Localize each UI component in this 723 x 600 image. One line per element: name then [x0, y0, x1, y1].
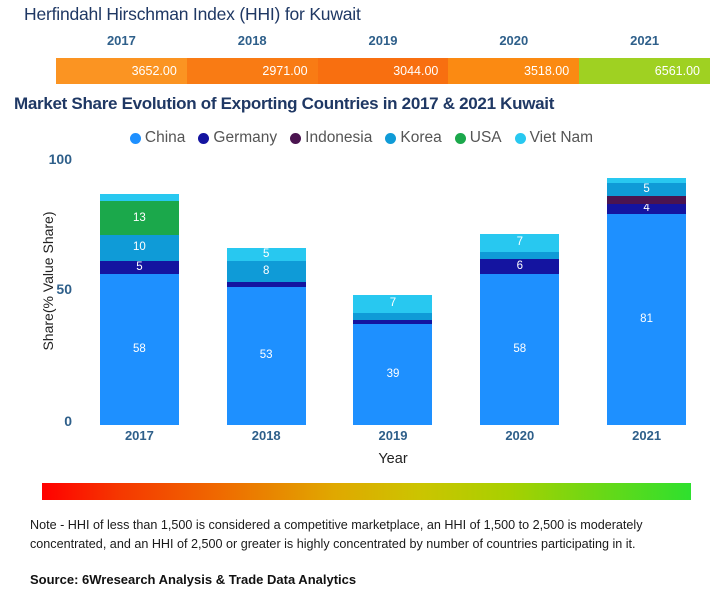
legend-item-usa[interactable]: USA [455, 129, 502, 147]
x-axis-tick: 2018 [203, 428, 330, 443]
bar-segment-viet-nam[interactable]: 5 [227, 248, 306, 261]
hhi-value-cell: 3652.00 [56, 58, 187, 84]
bar-segment-value: 58 [513, 344, 526, 356]
hhi-value-cell: 3518.00 [448, 58, 579, 84]
hhi-year-label: 2017 [56, 33, 187, 48]
bar-segment-value: 39 [387, 369, 400, 381]
hhi-year-label: 2020 [448, 33, 579, 48]
bar-segment-value: 5 [263, 249, 269, 261]
hhi-year-label: 2018 [187, 33, 318, 48]
bar-slot-2020: 7658 [456, 165, 583, 425]
bar-slot-2017: 1310558 [76, 165, 203, 425]
legend-item-korea[interactable]: Korea [385, 129, 441, 147]
y-axis-tick: 0 [30, 413, 72, 429]
x-axis-title: Year [76, 451, 710, 467]
hhi-year-label: 2021 [579, 33, 710, 48]
bar-segment-value: 7 [517, 237, 523, 249]
bar-segment-value: 10 [133, 242, 146, 254]
bar-segment-china[interactable]: 39 [353, 324, 432, 425]
bar-segment-korea[interactable]: 10 [100, 235, 179, 261]
x-axis-tick: 2017 [76, 428, 203, 443]
y-axis-tick: 50 [30, 281, 72, 297]
bar-segment-value: 53 [260, 350, 273, 362]
stacked-bar-2017[interactable]: 1310558 [100, 194, 179, 425]
legend-label: China [145, 129, 186, 147]
plot-area: 1310558585373976585481 [76, 165, 710, 425]
stacked-bar-2018[interactable]: 5853 [227, 248, 306, 425]
hhi-value-cell: 3044.00 [318, 58, 449, 84]
bar-slot-2021: 5481 [583, 165, 710, 425]
y-axis: Share(% Value Share) 100 50 0 [20, 155, 72, 425]
legend-swatch-icon [515, 133, 526, 144]
legend-swatch-icon [385, 133, 396, 144]
legend-label: Viet Nam [530, 129, 593, 147]
legend-item-germany[interactable]: Germany [198, 129, 277, 147]
bar-segment-korea[interactable]: 8 [227, 261, 306, 282]
bar-segment-value: 13 [133, 213, 146, 225]
x-axis-tick: 2020 [456, 428, 583, 443]
bar-segment-germany[interactable]: 6 [480, 259, 559, 275]
stacked-bar-2021[interactable]: 5481 [607, 178, 686, 425]
bar-segment-china[interactable]: 58 [100, 274, 179, 425]
stacked-bar-2019[interactable]: 739 [353, 295, 432, 425]
bar-segment-value: 8 [263, 266, 269, 278]
hhi-year-label: 2019 [318, 33, 449, 48]
legend-swatch-icon [455, 133, 466, 144]
bar-segment-indonesia[interactable] [607, 196, 686, 204]
bar-segment-value: 81 [640, 314, 653, 326]
bar-segment-value: 4 [643, 204, 649, 214]
legend-item-viet-nam[interactable]: Viet Nam [515, 129, 593, 147]
chart-plot: Share(% Value Share) 100 50 0 1310558585… [0, 155, 723, 445]
hhi-value-cell: 2971.00 [187, 58, 318, 84]
note-text: Note - HHI of less than 1,500 is conside… [30, 516, 698, 553]
legend-label: Germany [213, 129, 277, 147]
hhi-value-band: 3652.00 2971.00 3044.00 3518.00 6561.00 [56, 58, 710, 84]
bar-segment-viet-nam[interactable]: 7 [480, 234, 559, 252]
legend-label: USA [470, 129, 502, 147]
x-axis-tick: 2021 [583, 428, 710, 443]
bar-segment-china[interactable]: 58 [480, 274, 559, 425]
stacked-bar-2020[interactable]: 7658 [480, 234, 559, 425]
legend-item-indonesia[interactable]: Indonesia [290, 129, 372, 147]
legend-label: Indonesia [305, 129, 372, 147]
bar-slot-2019: 739 [330, 165, 457, 425]
legend-swatch-icon [198, 133, 209, 144]
bar-group: 1310558585373976585481 [76, 165, 710, 425]
bar-segment-germany[interactable]: 4 [607, 204, 686, 214]
bar-segment-viet-nam[interactable] [100, 194, 179, 202]
legend-swatch-icon [130, 133, 141, 144]
hhi-gradient-scale-bar [42, 483, 691, 500]
bar-segment-value: 7 [390, 298, 396, 310]
bar-segment-china[interactable]: 53 [227, 287, 306, 425]
bar-segment-value: 6 [517, 261, 523, 273]
bar-segment-china[interactable]: 81 [607, 214, 686, 425]
legend-label: Korea [400, 129, 441, 147]
hhi-title: Herfindahl Hirschman Index (HHI) for Kuw… [24, 4, 361, 25]
bar-slot-2018: 5853 [203, 165, 330, 425]
bar-segment-viet-nam[interactable]: 7 [353, 295, 432, 313]
x-axis-tick: 2019 [330, 428, 457, 443]
x-axis-line [76, 425, 710, 427]
bar-segment-value: 58 [133, 344, 146, 356]
bar-segment-value: 5 [643, 184, 649, 196]
y-axis-tick: 100 [30, 151, 72, 167]
legend-item-china[interactable]: China [130, 129, 186, 147]
bar-segment-value: 5 [136, 262, 142, 274]
source-text: Source: 6Wresearch Analysis & Trade Data… [30, 572, 356, 587]
chart-title: Market Share Evolution of Exporting Coun… [14, 94, 554, 114]
x-axis-labels: 2017 2018 2019 2020 2021 [76, 428, 710, 443]
chart-legend: ChinaGermanyIndonesiaKoreaUSAViet Nam [0, 129, 723, 147]
legend-swatch-icon [290, 133, 301, 144]
hhi-value-cell: 6561.00 [579, 58, 710, 84]
hhi-year-header-row: 2017 2018 2019 2020 2021 [56, 33, 710, 48]
bar-segment-germany[interactable]: 5 [100, 261, 179, 274]
bar-segment-usa[interactable]: 13 [100, 201, 179, 235]
bar-segment-korea[interactable]: 5 [607, 183, 686, 196]
